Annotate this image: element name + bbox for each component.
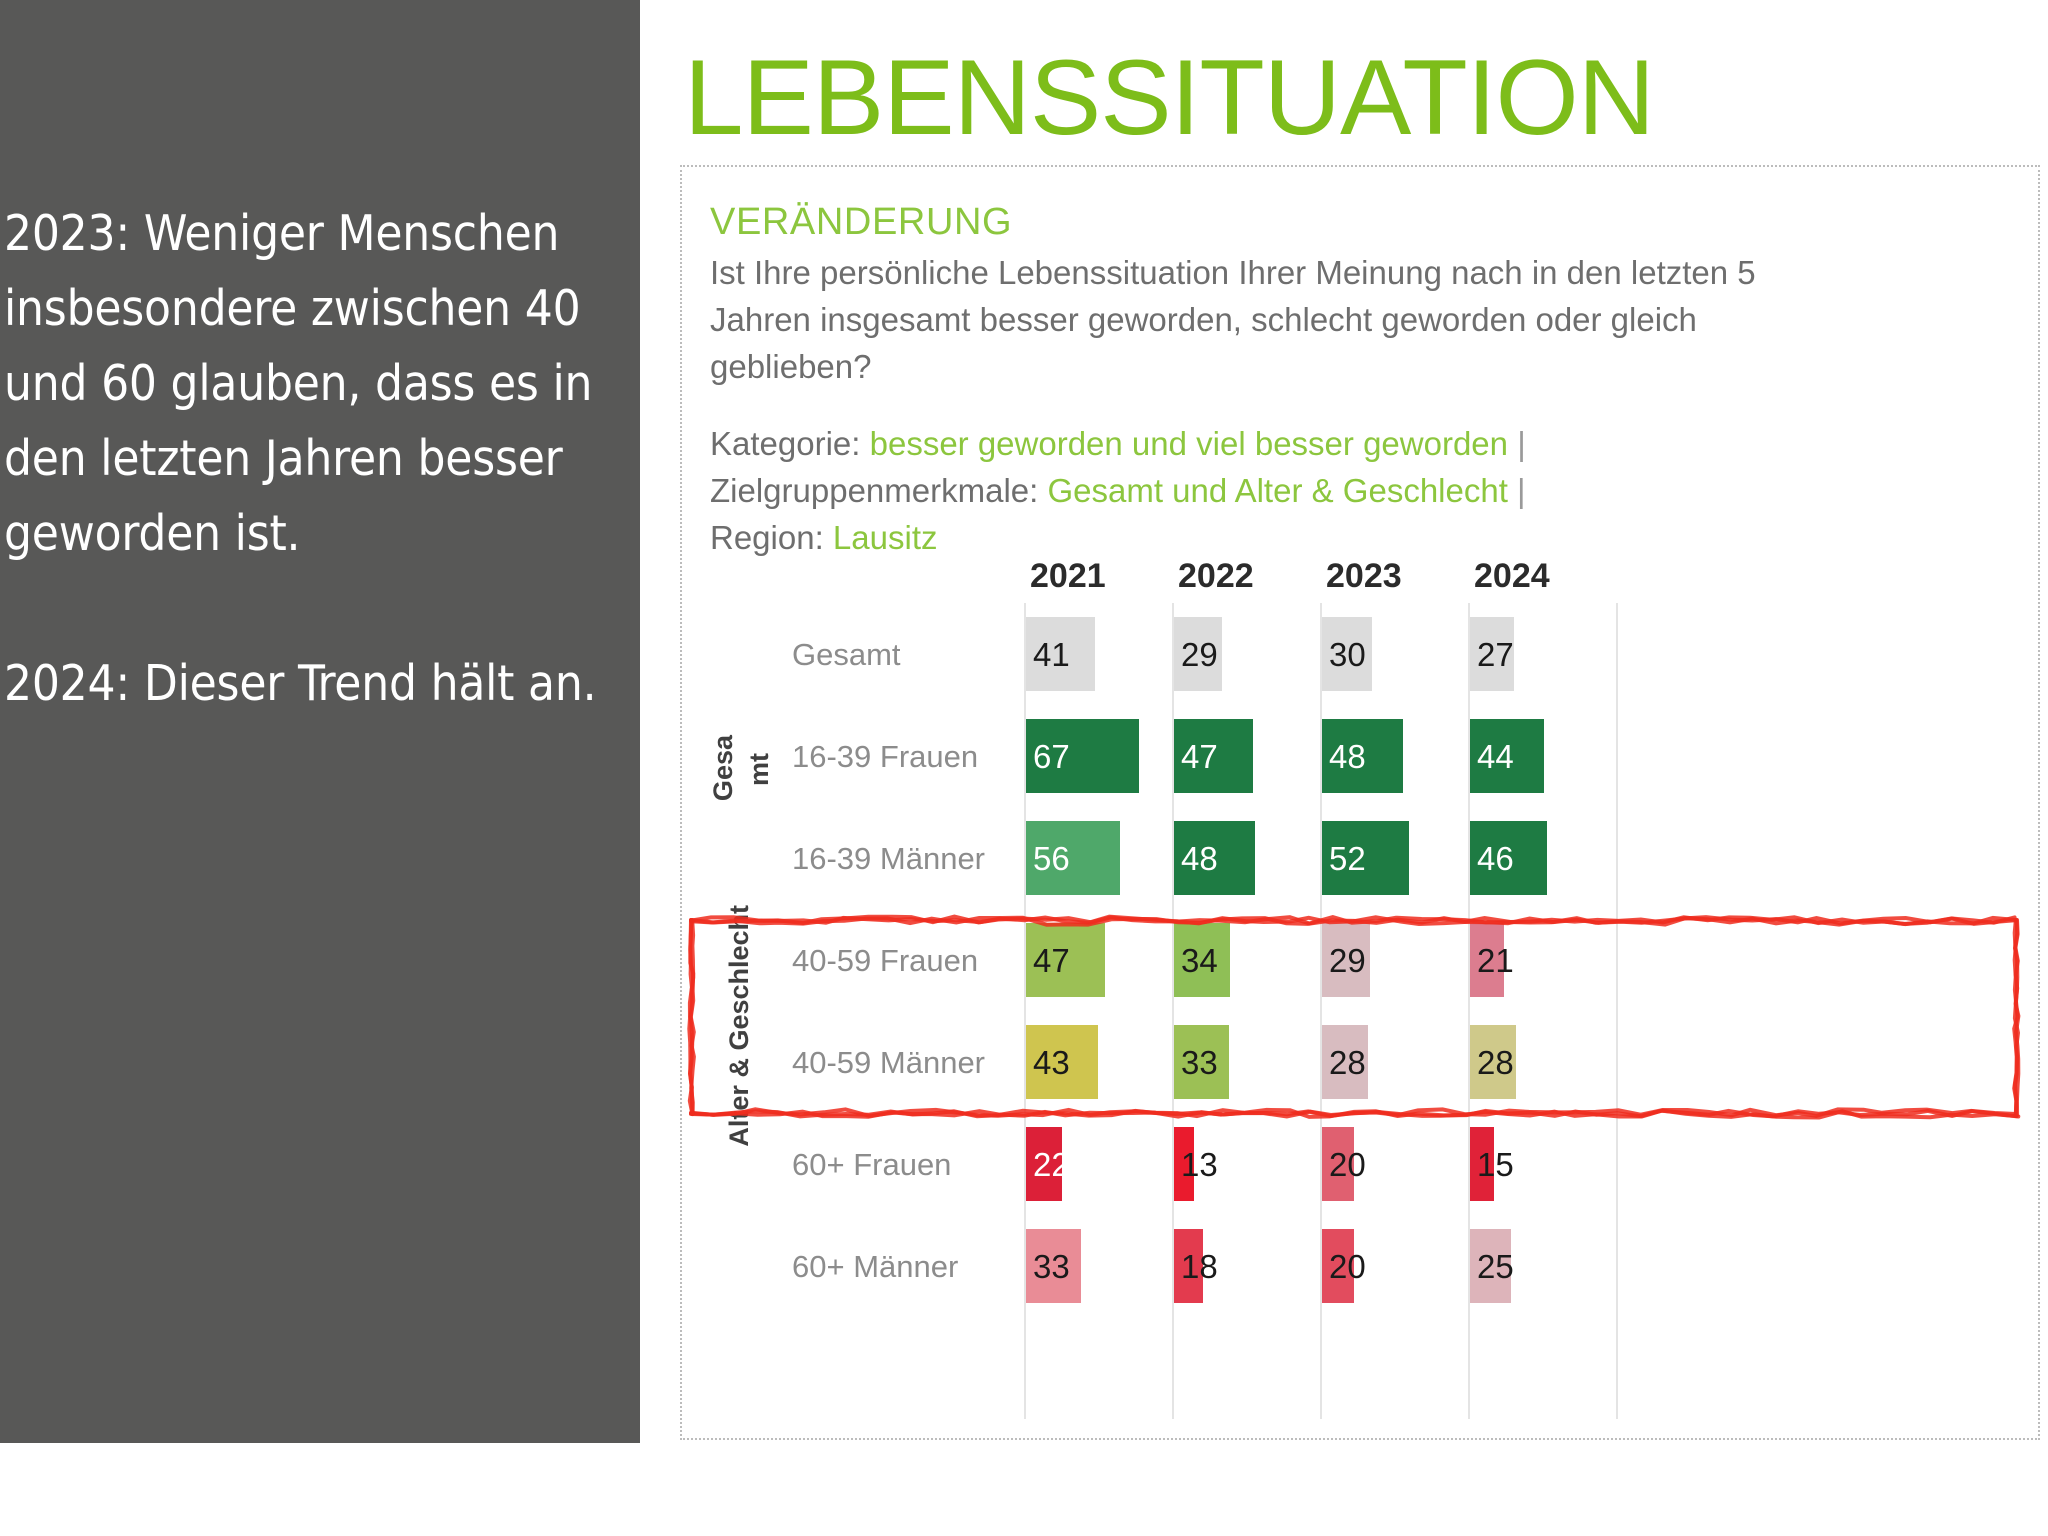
commentary-text: 2023: Weniger Menschen insbesondere zwis…: [4, 196, 614, 721]
value-bar: 18: [1172, 1229, 1203, 1303]
heatmap-cell: 15: [1468, 1127, 1616, 1201]
row-label: 60+ Frauen: [792, 1147, 951, 1183]
value-bar: 44: [1468, 719, 1544, 793]
commentary-paragraph-1: 2023: Weniger Menschen insbesondere zwis…: [4, 196, 614, 571]
heatmap-cell: 13: [1172, 1127, 1320, 1201]
table-row: 60+ Frauen22132015: [702, 1113, 2020, 1215]
cell-value: 15: [1468, 1148, 1514, 1181]
survey-question: Ist Ihre persönliche Lebenssituation Ihr…: [710, 249, 1840, 390]
value-bar: 28: [1320, 1025, 1368, 1099]
value-bar: 56: [1024, 821, 1120, 895]
cell-value: 28: [1468, 1046, 1514, 1079]
heatmap-cell: 18: [1172, 1229, 1320, 1303]
table-row: 16-39 Männer56485246: [702, 807, 2020, 909]
heatmap-cell: 21: [1468, 923, 1616, 997]
table-row: 40-59 Frauen47342921: [702, 909, 2020, 1011]
gridline: [1616, 603, 1618, 1419]
cell-value: 28: [1320, 1046, 1366, 1079]
page-title: LEBENSSITUATION: [684, 40, 1654, 155]
cell-value: 27: [1468, 638, 1514, 671]
year-label-2021: 2021: [1030, 557, 1106, 596]
heatmap-cell: 30: [1320, 617, 1468, 691]
cell-value: 20: [1320, 1148, 1366, 1181]
heatmap-cell: 20: [1320, 1229, 1468, 1303]
value-bar: 20: [1320, 1229, 1354, 1303]
cell-value: 52: [1320, 842, 1366, 875]
heatmap-cell: 20: [1320, 1127, 1468, 1201]
heatmap-cell: 47: [1172, 719, 1320, 793]
heatmap-cell: 28: [1468, 1025, 1616, 1099]
cell-value: 43: [1024, 1046, 1070, 1079]
cell-value: 56: [1024, 842, 1070, 875]
table-row: 16-39 Frauen67474844: [702, 705, 2020, 807]
heatmap-cell: 67: [1024, 719, 1172, 793]
table-row: 60+ Männer33182025: [702, 1215, 2020, 1317]
heatmap-cell: 48: [1320, 719, 1468, 793]
cell-value: 33: [1024, 1250, 1070, 1283]
cell-value: 67: [1024, 740, 1070, 773]
year-header-row: 2021202220232024: [702, 557, 2020, 601]
gridline: [1468, 603, 1470, 1419]
value-bar: 29: [1172, 617, 1222, 691]
table-row: Gesamt41293027: [702, 603, 2020, 705]
value-bar: 34: [1172, 923, 1230, 997]
commentary-paragraph-2: 2024: Dieser Trend hält an.: [4, 646, 614, 721]
cell-value: 29: [1320, 944, 1366, 977]
cell-value: 41: [1024, 638, 1070, 671]
cell-value: 30: [1320, 638, 1366, 671]
cell-value: 13: [1172, 1148, 1218, 1181]
value-bar: 46: [1468, 821, 1547, 895]
section-subheading: VERÄNDERUNG: [710, 201, 1012, 244]
cell-value: 22: [1024, 1148, 1070, 1181]
heatmap-cell: 34: [1172, 923, 1320, 997]
value-bar: 48: [1320, 719, 1403, 793]
meta-separator-1: |: [1517, 425, 1526, 462]
gridline: [1024, 603, 1026, 1419]
heatmap-cell: 33: [1172, 1025, 1320, 1099]
row-label: 60+ Männer: [792, 1249, 958, 1285]
cell-value: 44: [1468, 740, 1514, 773]
year-label-2022: 2022: [1178, 557, 1254, 596]
cell-value: 48: [1172, 842, 1218, 875]
table-row: 40-59 Männer43332828: [702, 1011, 2020, 1113]
value-bar: 41: [1024, 617, 1095, 691]
heatmap-cell: 29: [1320, 923, 1468, 997]
cell-value: 29: [1172, 638, 1218, 671]
cell-value: 18: [1172, 1250, 1218, 1283]
zielgruppen-label: Zielgruppenmerkmale:: [710, 472, 1038, 509]
cell-value: 20: [1320, 1250, 1366, 1283]
year-label-2024: 2024: [1474, 557, 1550, 596]
cell-value: 46: [1468, 842, 1514, 875]
value-bar: 21: [1468, 923, 1504, 997]
heatmap-cell: 29: [1172, 617, 1320, 691]
zielgruppen-value: Gesamt und Alter & Geschlecht: [1047, 472, 1507, 509]
value-bar: 28: [1468, 1025, 1516, 1099]
commentary-spacer: [4, 571, 614, 646]
value-bar: 33: [1172, 1025, 1229, 1099]
row-label: 40-59 Männer: [792, 1045, 985, 1081]
value-bar: 29: [1320, 923, 1370, 997]
cell-value: 48: [1320, 740, 1366, 773]
cell-value: 47: [1172, 740, 1218, 773]
value-bar: 30: [1320, 617, 1372, 691]
region-label: Region:: [710, 519, 824, 556]
cell-value: 25: [1468, 1250, 1514, 1283]
heatmap-cell: 47: [1024, 923, 1172, 997]
year-label-2023: 2023: [1326, 557, 1402, 596]
kategorie-label: Kategorie:: [710, 425, 860, 462]
heatmap-cell: 48: [1172, 821, 1320, 895]
value-bar: 47: [1172, 719, 1253, 793]
filter-metadata: Kategorie: besser geworden und viel bess…: [710, 420, 1890, 561]
region-value: Lausitz: [833, 519, 938, 556]
cell-value: 47: [1024, 944, 1070, 977]
value-bar: 48: [1172, 821, 1255, 895]
value-bar: 27: [1468, 617, 1514, 691]
row-label: 16-39 Frauen: [792, 739, 978, 775]
value-bar: 43: [1024, 1025, 1098, 1099]
row-label: 40-59 Frauen: [792, 943, 978, 979]
heatmap-cell: 43: [1024, 1025, 1172, 1099]
value-bar: 33: [1024, 1229, 1081, 1303]
value-bar: 13: [1172, 1127, 1194, 1201]
heatmap-cell: 44: [1468, 719, 1616, 793]
heatmap-cell: 28: [1320, 1025, 1468, 1099]
content-card: VERÄNDERUNG Ist Ihre persönliche Lebenss…: [680, 165, 2040, 1440]
value-bar: 15: [1468, 1127, 1494, 1201]
value-bar: 22: [1024, 1127, 1062, 1201]
heatmap-cell: 56: [1024, 821, 1172, 895]
slide: 2023: Weniger Menschen insbesondere zwis…: [0, 0, 2048, 1536]
heatmap-cell: 25: [1468, 1229, 1616, 1303]
gridline: [1320, 603, 1322, 1419]
heatmap-cell: 27: [1468, 617, 1616, 691]
meta-separator-2: |: [1517, 472, 1526, 509]
kategorie-value: besser geworden und viel besser geworden: [870, 425, 1508, 462]
gridline: [1172, 603, 1174, 1419]
heatmap-cell: 41: [1024, 617, 1172, 691]
value-bar: 20: [1320, 1127, 1354, 1201]
value-bar: 52: [1320, 821, 1409, 895]
heatmap-cell: 46: [1468, 821, 1616, 895]
left-commentary-panel: 2023: Weniger Menschen insbesondere zwis…: [0, 0, 640, 1443]
chart-rows: Gesamt4129302716-39 Frauen6747484416-39 …: [702, 603, 2020, 1419]
cell-value: 33: [1172, 1046, 1218, 1079]
heatmap-bar-chart: Gesa mt Alter & Geschlecht 2021202220232…: [702, 557, 2020, 1422]
value-bar: 47: [1024, 923, 1105, 997]
value-bar: 25: [1468, 1229, 1511, 1303]
heatmap-cell: 22: [1024, 1127, 1172, 1201]
heatmap-cell: 52: [1320, 821, 1468, 895]
cell-value: 21: [1468, 944, 1514, 977]
cell-value: 34: [1172, 944, 1218, 977]
row-label: 16-39 Männer: [792, 841, 985, 877]
value-bar: 67: [1024, 719, 1139, 793]
heatmap-cell: 33: [1024, 1229, 1172, 1303]
row-label: Gesamt: [792, 637, 901, 673]
